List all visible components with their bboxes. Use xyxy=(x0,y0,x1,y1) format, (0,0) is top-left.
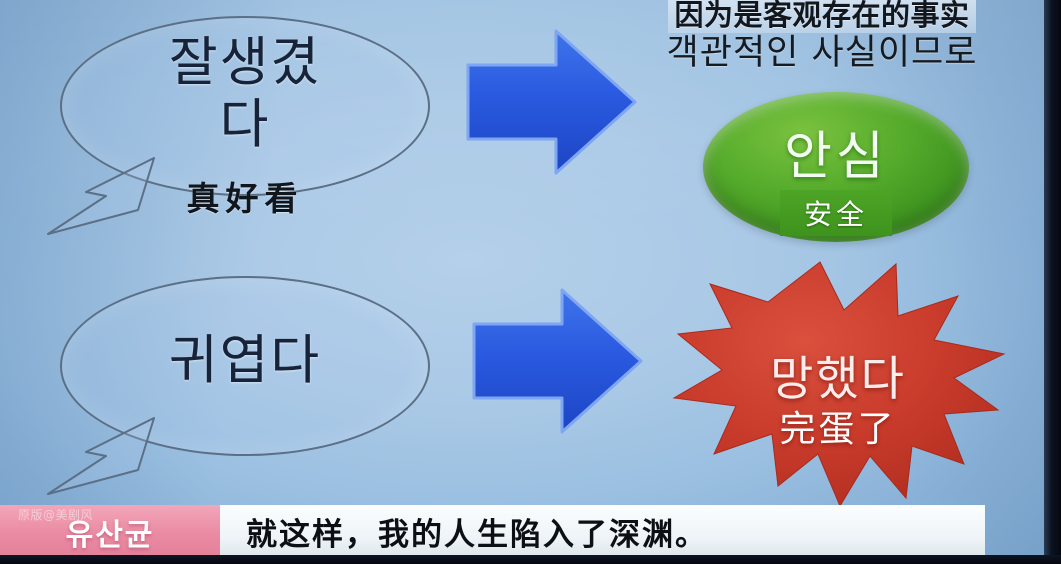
screen-bezel-bottom xyxy=(0,555,1061,564)
channel-name: 유산균 xyxy=(66,521,155,557)
green-node-chinese-label: 安全 xyxy=(804,193,868,233)
right-arrow-icon-top xyxy=(464,27,639,177)
bubble1-korean-line2: 다 xyxy=(220,94,271,155)
channel-badge: 原版@美剧风 유산균 xyxy=(0,505,220,557)
subtitle-panel: 就这样，我的人生陷入了深渊。 xyxy=(220,505,985,557)
speech-bubble-tail xyxy=(46,412,178,498)
screen-bezel-right xyxy=(1044,0,1061,564)
right-arrow-icon-bottom xyxy=(470,286,645,436)
speech-bubble-korean-text: 잘생겼 다 xyxy=(60,32,430,156)
subtitle-text: 就这样，我的人生陷入了深渊。 xyxy=(246,509,708,554)
slide-screenshot: 因为是客观存在的事实 객관적인 사실이므로 잘생겼 다 真好看 귀엽다 真可爱 xyxy=(0,0,1061,564)
red-node-chinese-label: 完蛋了 xyxy=(668,400,1008,452)
red-node-korean-label: 망했다 xyxy=(668,340,1008,409)
speech-bubble-korean-text: 귀엽다 xyxy=(60,330,430,392)
top-caption-chinese: 因为是客观存在的事实 xyxy=(668,0,975,33)
green-node-chinese-plate: 安全 xyxy=(780,190,892,236)
channel-watermark: 原版@美剧风 xyxy=(18,506,93,523)
top-caption: 因为是客观存在的事实 객관적인 사실이므로 xyxy=(612,0,1032,71)
outcome-doomed-starburst: 망했다 完蛋了 xyxy=(668,258,1008,510)
subtitle-bar: 原版@美剧风 유산균 就这样，我的人生陷入了深渊。 xyxy=(0,505,985,557)
outcome-safe-ellipse: 안심 安全 xyxy=(703,92,969,242)
speech-bubble-chinese-text: 真好看 xyxy=(60,172,430,220)
green-node-korean-label: 안심 xyxy=(703,114,969,189)
speech-bubble-compliment-handsome: 잘생겼 다 真好看 xyxy=(60,16,430,196)
speech-bubble-compliment-cute: 귀엽다 真可爱 xyxy=(60,276,430,456)
top-caption-korean: 객관적인 사실이므로 xyxy=(612,36,1032,71)
bubble1-korean-line1: 잘생겼 xyxy=(169,32,321,93)
